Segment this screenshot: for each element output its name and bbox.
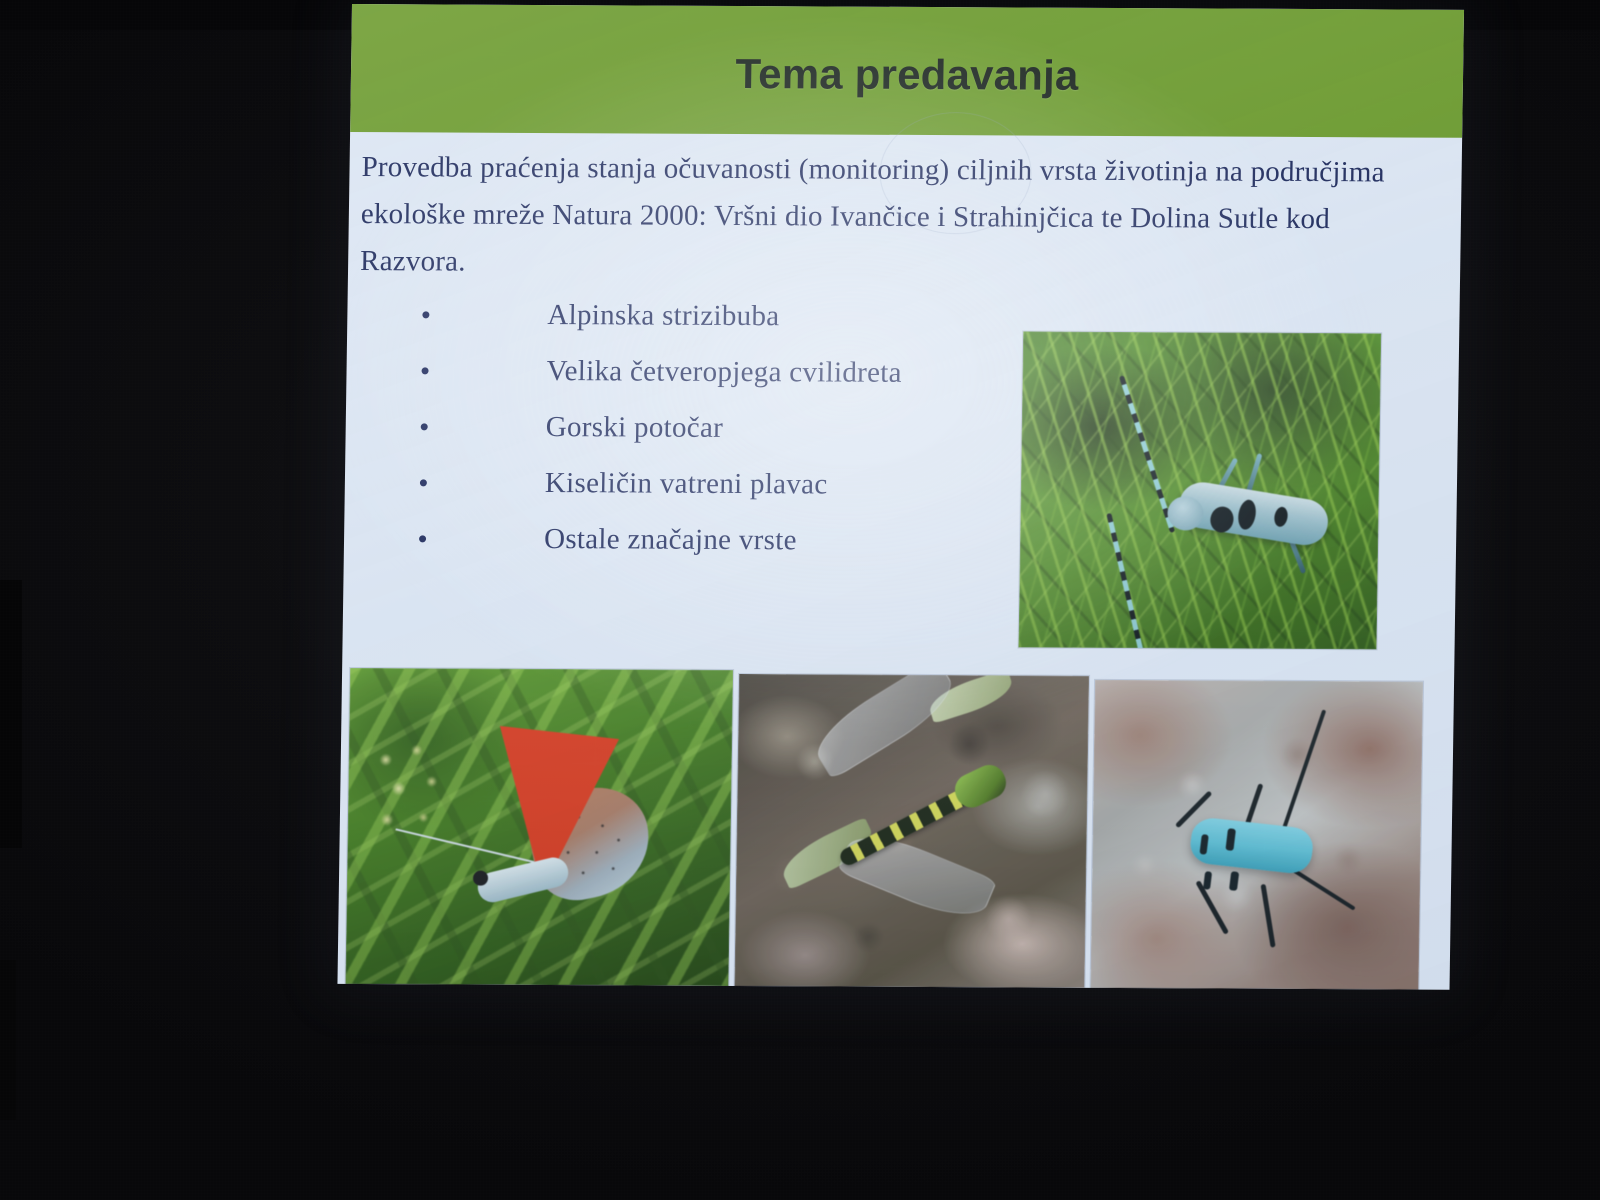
photo-dragonfly-on-gravel bbox=[734, 674, 1089, 988]
photo-large-copper-butterfly bbox=[345, 668, 733, 986]
bullet-dot-icon bbox=[422, 367, 429, 374]
list-item: Ostale značajne vrste bbox=[414, 510, 1055, 569]
list-item: Kiseličin vatreni plavac bbox=[414, 454, 1055, 513]
bullet-label: Alpinska strizibuba bbox=[547, 299, 780, 332]
projected-slide: Tema predavanja Provedba praćenja stanja… bbox=[337, 4, 1464, 990]
slide-title: Tema predavanja bbox=[351, 48, 1464, 102]
list-item: Gorski potočar bbox=[415, 398, 1056, 457]
bullet-dot-icon bbox=[422, 311, 429, 318]
slide-intro-paragraph: Provedba praćenja stanja očuvanosti (mon… bbox=[360, 144, 1442, 291]
wall-dark-band-lower bbox=[0, 960, 16, 1120]
wall-dark-band-upper bbox=[0, 580, 22, 848]
bullet-label: Kiseličin vatreni plavac bbox=[545, 467, 828, 500]
slide-bullet-list: Alpinska strizibuba Velika četveropjega … bbox=[414, 286, 1058, 569]
list-item: Velika četveropjega cvilidreta bbox=[416, 342, 1057, 401]
bullet-dot-icon bbox=[419, 535, 426, 542]
bullet-label: Gorski potočar bbox=[546, 411, 724, 444]
photo-alpine-longhorn-beetle-on-grass bbox=[1019, 332, 1382, 650]
list-item: Alpinska strizibuba bbox=[417, 286, 1058, 345]
bullet-label: Velika četveropjega cvilidreta bbox=[546, 355, 902, 389]
bullet-label: Ostale značajne vrste bbox=[544, 523, 797, 556]
slide-title-banner: Tema predavanja bbox=[350, 4, 1464, 138]
bullet-dot-icon bbox=[421, 423, 428, 430]
slide-canvas: Tema predavanja Provedba praćenja stanja… bbox=[337, 4, 1464, 990]
photo-blue-longhorn-beetle-on-rock bbox=[1090, 680, 1423, 990]
flower-cluster bbox=[363, 738, 475, 859]
bullet-dot-icon bbox=[420, 479, 427, 486]
beetle-spot bbox=[1203, 871, 1212, 890]
